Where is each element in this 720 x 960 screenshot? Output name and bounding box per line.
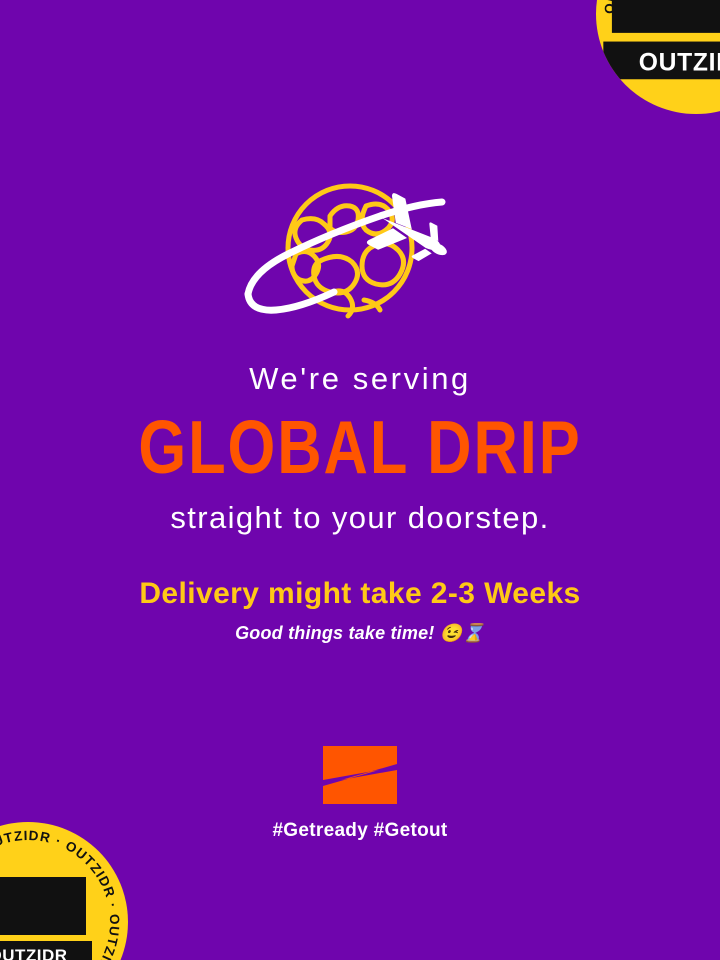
brand-badge-bottom-left: OUTZIDR · OUTZIDR · OUTZIDR · OUTZIDR · … <box>0 822 128 960</box>
reassurance-text: Good things take time! 😉⌛ <box>0 624 720 644</box>
eyebrow-text: We're serving <box>0 362 720 396</box>
z-logo-mark-icon <box>0 875 92 937</box>
hashtags-text: #Getready #Getout <box>0 820 720 842</box>
z-logo-mark-icon <box>603 0 720 36</box>
delivery-note-text: Delivery might take 2-3 Weeks <box>0 577 720 610</box>
headline-text: GLOBAL DRIP <box>14 408 705 487</box>
hero-illustration <box>0 176 720 336</box>
globe-airplane-icon <box>240 176 480 336</box>
svg-text:OUTZIDR: OUTZIDR <box>0 946 68 960</box>
svg-text:OUTZIDR: OUTZIDR <box>639 50 720 77</box>
footer-block: #Getready #Getout <box>0 744 720 842</box>
badge-core-top-right: OUTZIDR <box>603 0 720 82</box>
z-logo-mark-icon <box>321 744 399 806</box>
badge-core-word: OUTZIDR <box>603 39 720 82</box>
copy-block: We're serving GLOBAL DRIP straight to yo… <box>0 362 720 644</box>
subline-text: straight to your doorstep. <box>0 501 720 535</box>
badge-core-word: OUTZIDR <box>0 939 92 960</box>
promo-poster: OUTZIDR · OUTZIDR · OUTZIDR · OUTZIDR · … <box>0 0 720 960</box>
brand-badge-top-right: OUTZIDR · OUTZIDR · OUTZIDR · OUTZIDR · … <box>596 0 720 114</box>
badge-core-bottom-left: OUTZIDR <box>0 875 92 960</box>
